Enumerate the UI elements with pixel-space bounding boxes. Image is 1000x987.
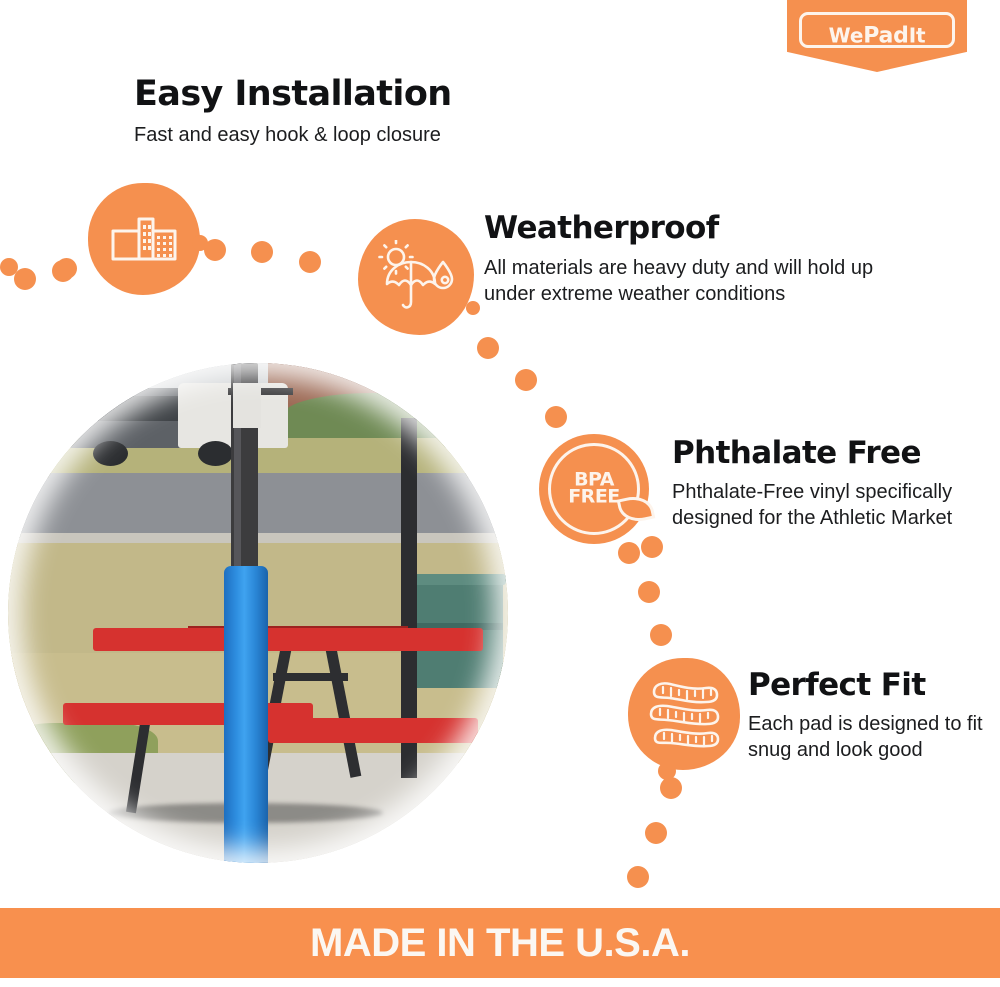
feature-title: Easy Installation: [134, 76, 554, 113]
feature-easy-installation: Easy Installation Fast and easy hook & l…: [134, 76, 554, 148]
path-dot: [645, 822, 667, 844]
logo-text-pad: Pad: [863, 24, 909, 49]
logo-text-we: We: [829, 24, 864, 48]
path-dot: [545, 406, 567, 428]
path-dot: [251, 241, 273, 263]
icon-blob-accent: [658, 762, 676, 780]
product-infographic: WePadIt Easy Installation Fast and easy …: [0, 0, 1000, 987]
made-in-usa-text: MADE IN THE U.S.A.: [310, 921, 690, 966]
icon-blob-accent: [641, 536, 663, 558]
path-dot: [638, 581, 660, 603]
feature-body: All materials are heavy duty and will ho…: [484, 255, 904, 308]
path-dot: [627, 866, 649, 888]
bpa-ring: [548, 443, 640, 535]
feature-phthalate-free: Phthalate Free Phthalate-Free vinyl spec…: [672, 437, 972, 531]
path-dot: [515, 369, 537, 391]
feature-title: Weatherproof: [484, 212, 904, 245]
feature-perfect-fit: Perfect Fit Each pad is designed to fit …: [748, 669, 988, 763]
logo-text: WePadIt: [787, 24, 967, 49]
measuring-tape-icon: [628, 658, 740, 770]
path-dot: [660, 777, 682, 799]
logo-text-it: It: [909, 24, 926, 48]
path-dot: [477, 337, 499, 359]
feature-title: Perfect Fit: [748, 669, 988, 702]
path-dot: [52, 260, 74, 282]
made-in-usa-banner: MADE IN THE U.S.A.: [0, 908, 1000, 978]
icon-blob-accent: [466, 301, 480, 315]
icon-blob-accent: [192, 235, 208, 251]
bpa-free-leaf-icon: BPA FREE: [539, 434, 649, 544]
feature-body: Phthalate-Free vinyl specifically design…: [672, 479, 972, 532]
building-installation-icon: [88, 183, 200, 295]
feature-weatherproof: Weatherproof All materials are heavy dut…: [484, 212, 904, 307]
brand-logo[interactable]: WePadIt: [787, 0, 967, 72]
path-dot: [618, 542, 640, 564]
sun-umbrella-raindrop-icon: [358, 219, 474, 335]
feature-body: Each pad is designed to fit snug and loo…: [748, 711, 988, 764]
product-photo: [8, 363, 508, 863]
path-dot: [14, 268, 36, 290]
photo-edge-fade: [8, 363, 508, 863]
path-dot: [0, 258, 18, 276]
feature-body: Fast and easy hook & loop closure: [134, 122, 554, 148]
feature-title: Phthalate Free: [672, 437, 972, 470]
path-dot: [299, 251, 321, 273]
path-dot: [650, 624, 672, 646]
